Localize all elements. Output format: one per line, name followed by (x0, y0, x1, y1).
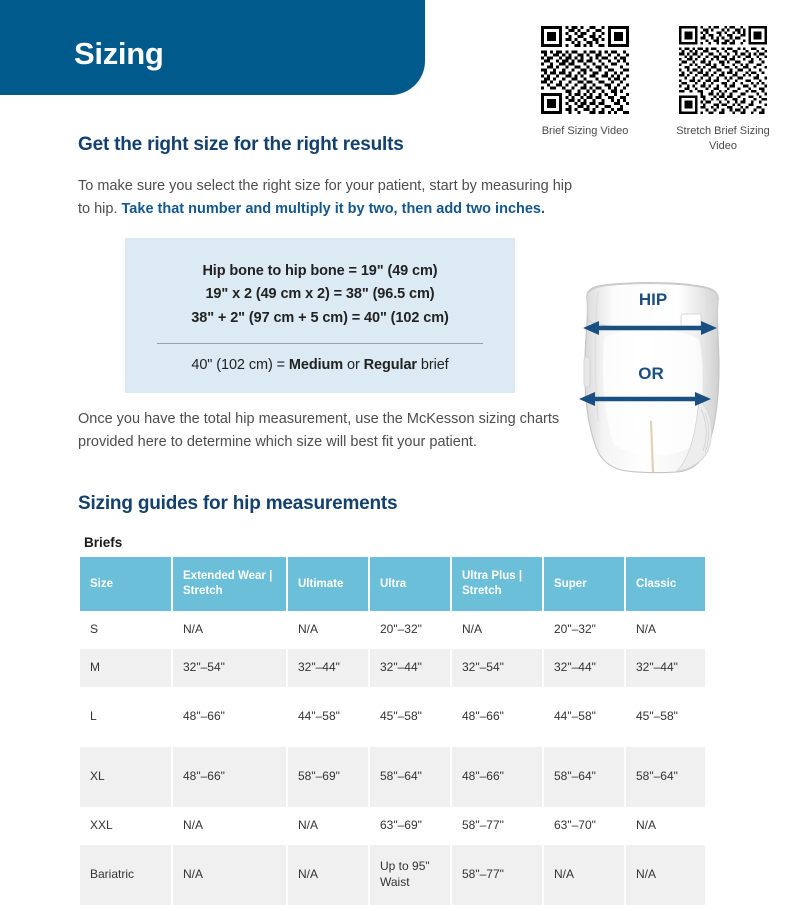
cell-extended-wear: 48"–66" (172, 687, 287, 747)
cell-ultra-plus: 48"–66" (451, 687, 543, 747)
cell-ultra: 20"–32" (369, 611, 451, 649)
qr-item-brief-sizing-video[interactable]: Brief Sizing Video (530, 26, 640, 154)
hip-label: HIP (639, 290, 667, 309)
or-label: OR (638, 364, 664, 383)
calc-line-1: Hip bone to hip bone = 19" (49 cm) (135, 260, 505, 283)
cell-extended-wear: N/A (172, 807, 287, 845)
column-header-size: Size (80, 557, 172, 611)
cell-super: 44"–58" (543, 687, 625, 747)
cell-ultra: 58"–64" (369, 747, 451, 807)
table-header-row: Size Extended Wear | Stretch Ultimate Ul… (80, 557, 705, 611)
sizing-table: Size Extended Wear | Stretch Ultimate Ul… (80, 557, 705, 905)
qr-code-group: Brief Sizing Video (520, 26, 788, 154)
cell-ultimate: N/A (287, 611, 369, 649)
cell-classic: 45"–58" (625, 687, 705, 747)
cell-extended-wear: N/A (172, 845, 287, 905)
table-row: Bariatric N/A N/A Up to 95" Waist 58"–77… (80, 845, 705, 905)
cell-extended-wear: N/A (172, 611, 287, 649)
table-row: XL 48"–66" 58"–69" 58"–64" 48"–66" 58"–6… (80, 747, 705, 807)
page-title: Sizing (74, 38, 163, 69)
cell-size: XL (80, 747, 172, 807)
cell-size: Bariatric (80, 845, 172, 905)
qr-caption: Brief Sizing Video (542, 124, 629, 139)
calc-result-fit: Regular (364, 357, 417, 373)
cell-super: 20"–32" (543, 611, 625, 649)
brief-product-image: HIP OR (565, 281, 740, 478)
cell-ultimate: 32"–44" (287, 649, 369, 687)
calc-result: 40" (102 cm) = Medium or Regular brief (135, 357, 505, 373)
cell-ultra-plus: 32"–54" (451, 649, 543, 687)
header-banner: Sizing (0, 0, 425, 95)
intro-text-emphasis: Take that number and multiply it by two,… (122, 201, 546, 217)
calc-result-size: Medium (289, 357, 343, 373)
table-row: M 32"–54" 32"–44" 32"–44" 32"–54" 32"–44… (80, 649, 705, 687)
cell-super: N/A (543, 845, 625, 905)
column-header-ultra-plus-stretch: Ultra Plus | Stretch (451, 557, 543, 611)
cell-ultimate: 58"–69" (287, 747, 369, 807)
cell-classic: 32"–44" (625, 649, 705, 687)
cell-super: 32"–44" (543, 649, 625, 687)
cell-extended-wear: 48"–66" (172, 747, 287, 807)
cell-size: M (80, 649, 172, 687)
cell-ultimate: N/A (287, 807, 369, 845)
cell-classic: N/A (625, 845, 705, 905)
intro-heading: Get the right size for the right results (78, 134, 404, 156)
qr-code-icon (679, 26, 767, 114)
cell-ultra: 45"–58" (369, 687, 451, 747)
column-header-extended-wear-stretch: Extended Wear | Stretch (172, 557, 287, 611)
cell-ultimate: N/A (287, 845, 369, 905)
qr-item-stretch-brief-sizing-video[interactable]: Stretch Brief Sizing Video (668, 26, 778, 154)
table-row: L 48"–66" 44"–58" 45"–58" 48"–66" 44"–58… (80, 687, 705, 747)
outro-paragraph: Once you have the total hip measurement,… (78, 408, 568, 454)
table-label-briefs: Briefs (84, 535, 122, 550)
calc-result-middle: or (343, 357, 364, 373)
sizing-heading: Sizing guides for hip measurements (78, 493, 397, 515)
cell-ultra: Up to 95" Waist (369, 845, 451, 905)
cell-size: S (80, 611, 172, 649)
cell-super: 58"–64" (543, 747, 625, 807)
cell-ultimate: 44"–58" (287, 687, 369, 747)
table-row: XXL N/A N/A 63"–69" 58"–77" 63"–70" N/A (80, 807, 705, 845)
qr-caption: Stretch Brief Sizing Video (668, 124, 778, 154)
cell-ultra-plus: 58"–77" (451, 845, 543, 905)
calc-result-suffix: brief (417, 357, 449, 373)
cell-size: L (80, 687, 172, 747)
cell-classic: N/A (625, 611, 705, 649)
cell-extended-wear: 32"–54" (172, 649, 287, 687)
calculation-box: Hip bone to hip bone = 19" (49 cm) 19" x… (125, 238, 515, 393)
table-row: S N/A N/A 20"–32" N/A 20"–32" N/A (80, 611, 705, 649)
calc-line-2: 19" x 2 (49 cm x 2) = 38" (96.5 cm) (135, 283, 505, 306)
cell-classic: N/A (625, 807, 705, 845)
qr-code-icon (541, 26, 629, 114)
cell-super: 63"–70" (543, 807, 625, 845)
column-header-ultra: Ultra (369, 557, 451, 611)
cell-ultra-plus: N/A (451, 611, 543, 649)
calc-line-3: 38" + 2" (97 cm + 5 cm) = 40" (102 cm) (135, 307, 505, 330)
cell-ultra-plus: 58"–77" (451, 807, 543, 845)
calc-divider (157, 343, 483, 344)
product-illustration: HIP OR (565, 281, 740, 478)
column-header-classic: Classic (625, 557, 705, 611)
calc-result-prefix: 40" (102 cm) = (191, 357, 289, 373)
cell-classic: 58"–64" (625, 747, 705, 807)
cell-size: XXL (80, 807, 172, 845)
cell-ultra: 63"–69" (369, 807, 451, 845)
column-header-super: Super (543, 557, 625, 611)
cell-ultra: 32"–44" (369, 649, 451, 687)
intro-paragraph: To make sure you select the right size f… (78, 175, 578, 221)
cell-ultra-plus: 48"–66" (451, 747, 543, 807)
column-header-ultimate: Ultimate (287, 557, 369, 611)
